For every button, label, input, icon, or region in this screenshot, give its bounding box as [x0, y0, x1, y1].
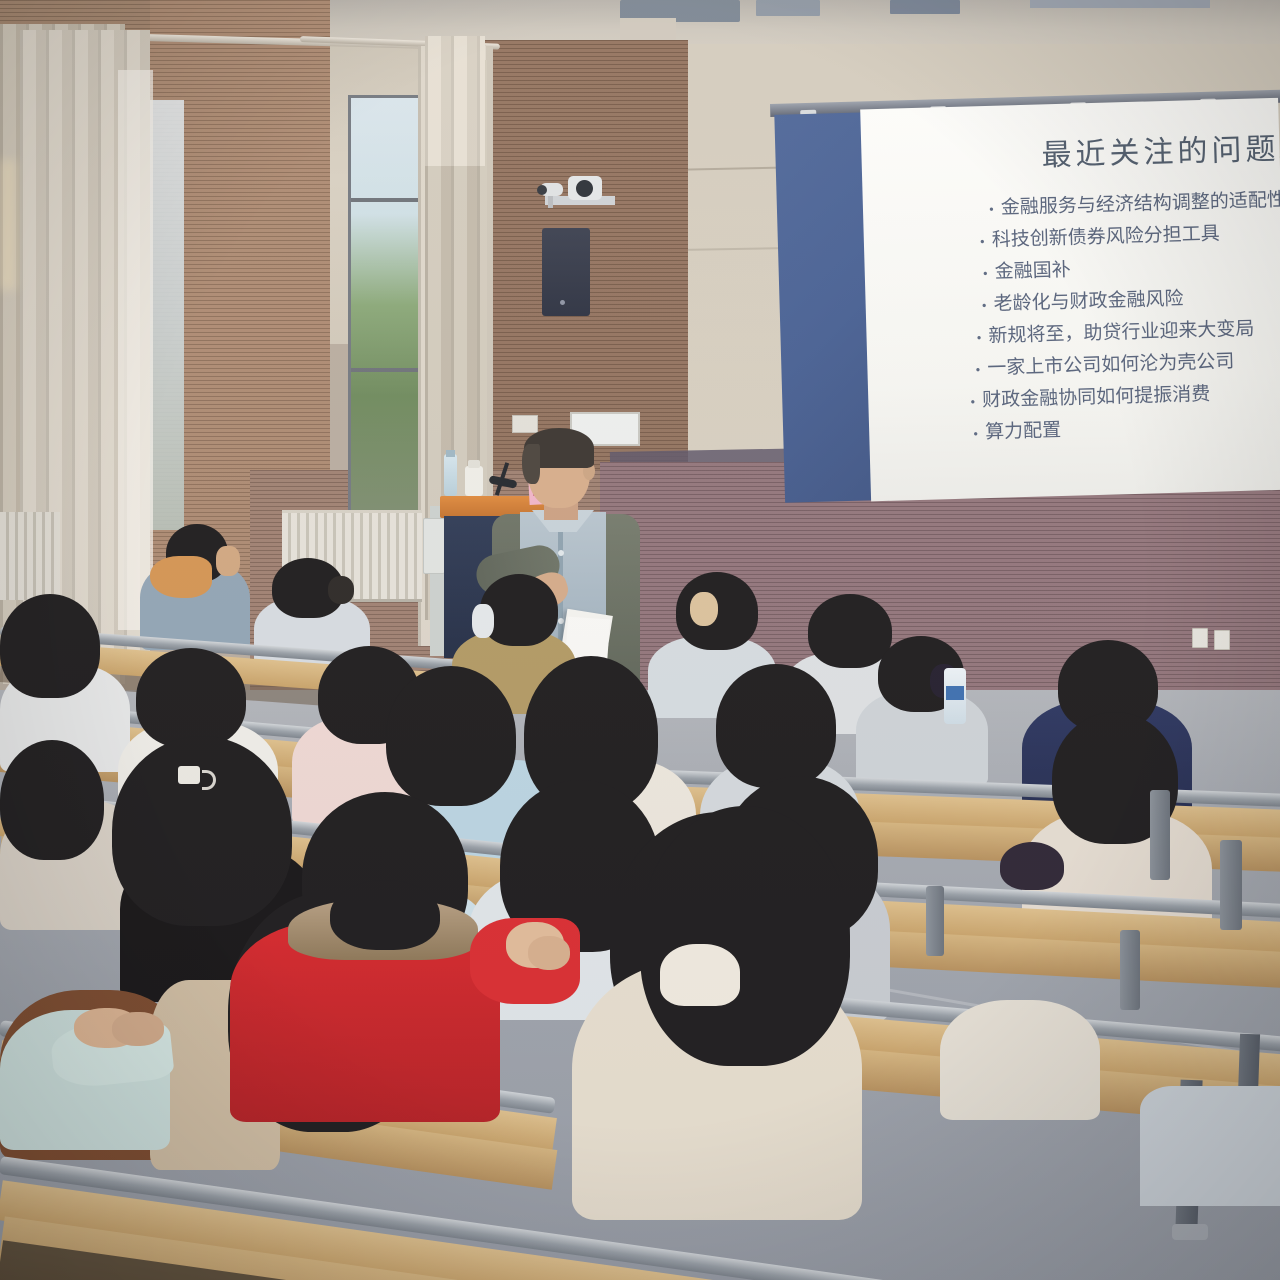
slide-bullet-text: 一家上市公司如何沦为壳公司 [987, 347, 1235, 384]
camera-mount [548, 196, 553, 208]
desk-foot [1172, 1224, 1208, 1240]
wall-speaker [542, 228, 590, 316]
wall-switch-plate[interactable] [512, 415, 538, 433]
student-hair [640, 806, 850, 1066]
student-face [216, 546, 240, 576]
sheer-curtain [118, 70, 153, 630]
bullet-dot-icon: • [970, 388, 976, 418]
projection-screen: 最近关注的问题 • 金融服务与经济结构调整的适配性 • 科技创新债券风险分担工具… [770, 90, 1280, 516]
student-hair [716, 664, 836, 788]
slide-title: 最近关注的问题 [957, 121, 1280, 176]
student-hair-clip [690, 592, 718, 626]
student-hair [808, 594, 892, 668]
student-hands [112, 1012, 164, 1046]
slide-bullet-text: 科技创新债券风险分担工具 [991, 219, 1220, 255]
bullet-dot-icon: • [980, 228, 986, 258]
student-hair [330, 880, 440, 950]
slide-bullet-text: 金融服务与经济结构调整的适配性 [1000, 186, 1280, 224]
bullet-dot-icon: • [975, 356, 981, 386]
wall-outlet[interactable] [1214, 630, 1230, 650]
bottle-cap [446, 450, 455, 457]
student-hair [136, 648, 246, 748]
student-hair [328, 576, 354, 604]
dark-bag-on-desk[interactable] [1000, 842, 1064, 890]
slide-bullet-text: 财政金融协同如何提振消费 [982, 380, 1211, 416]
ceiling-rail [1030, 0, 1210, 8]
student-hair [0, 740, 104, 860]
shirt-button [558, 550, 564, 556]
ceiling-vent [756, 0, 820, 16]
window-left [150, 100, 184, 530]
window-mullion [351, 198, 425, 202]
seat-bracket [1120, 930, 1140, 1010]
radiator [0, 512, 60, 600]
student-body [1140, 1086, 1280, 1206]
slide-side-band [774, 112, 875, 502]
slide-bullet-text: 新规将至，助贷行业迎来大变局 [988, 315, 1255, 352]
bullet-dot-icon: • [989, 196, 995, 226]
slide-bullet-text: 算力配置 [985, 416, 1062, 448]
bullet-dot-icon: • [976, 324, 982, 354]
slide-canvas: 最近关注的问题 • 金融服务与经济结构调整的适配性 • 科技创新债券风险分担工具… [860, 98, 1280, 502]
seat-bracket [1150, 790, 1170, 880]
student-orange-scarf [150, 556, 212, 598]
hood-collar [660, 944, 740, 1006]
speaker-led-icon [560, 300, 565, 305]
presenter-hair [522, 444, 540, 484]
hair-clip [178, 766, 200, 784]
camera-lens-icon [576, 180, 593, 197]
ceiling-vent [890, 0, 960, 14]
student-hair [112, 736, 292, 926]
window-pane [351, 98, 425, 512]
window-mullion [351, 368, 425, 372]
bottle-label [946, 686, 964, 700]
bullet-dot-icon: • [982, 260, 988, 290]
shirt-button [558, 618, 564, 624]
bullet-dot-icon: • [981, 292, 987, 322]
slide-bullet-text: 金融国补 [994, 256, 1071, 288]
slide-bullet-list: • 金融服务与经济结构调整的适配性 • 科技创新债券风险分担工具 • 金融国补 … [971, 183, 1280, 450]
student-hair [386, 666, 516, 806]
window-glare [0, 160, 16, 290]
student-hair [0, 594, 100, 698]
student-hands [528, 936, 570, 970]
curtain-panel [425, 36, 485, 166]
lecture-hall-photo: 最近关注的问题 • 金融服务与经济结构调整的适配性 • 科技创新债券风险分担工具… [0, 0, 1280, 1280]
bullet-dot-icon: • [973, 420, 979, 450]
slide-bullet-text: 老龄化与财政金融风险 [993, 285, 1184, 320]
seat-bracket [1220, 840, 1242, 930]
student-mask [472, 604, 494, 638]
wall-outlet[interactable] [1192, 628, 1208, 648]
seat-bracket [926, 886, 944, 956]
water-bottle[interactable] [444, 454, 457, 496]
window-right [348, 95, 428, 515]
student-body [940, 1000, 1100, 1120]
camera-lens-icon [537, 185, 547, 195]
